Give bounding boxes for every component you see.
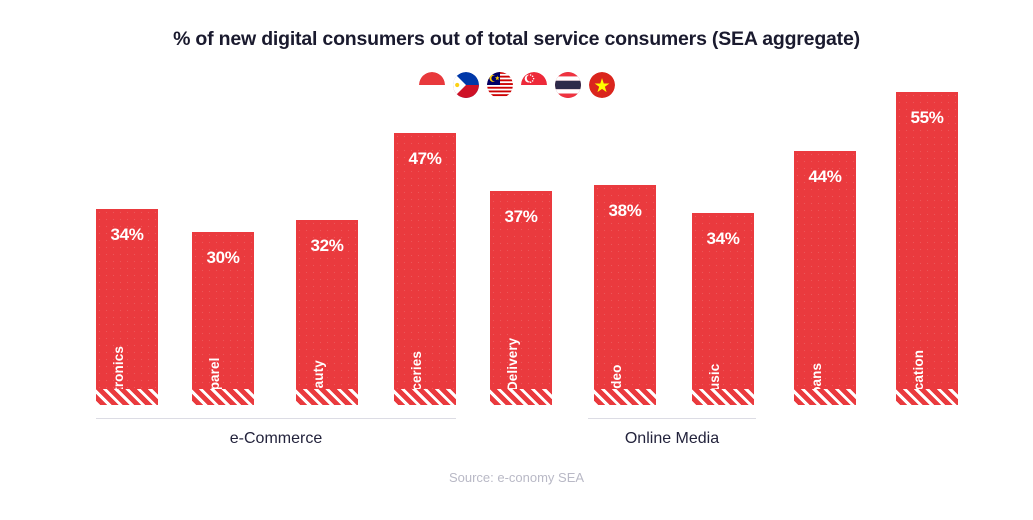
bar-hatch-base bbox=[794, 389, 856, 405]
bar-hatch-base bbox=[594, 389, 656, 405]
bar-hatch-base bbox=[192, 389, 254, 405]
bar-electronics[interactable]: 34% Electronics bbox=[96, 209, 158, 405]
bar-hatch-base bbox=[692, 389, 754, 405]
bar-hatch-base bbox=[96, 389, 158, 405]
group-label-online-media: Online Media bbox=[588, 430, 756, 448]
bar-category-label: Education bbox=[909, 350, 927, 416]
bar-groceries[interactable]: 47% Groceries bbox=[394, 133, 456, 405]
bar-video[interactable]: 38% Video bbox=[594, 185, 656, 405]
bar-value-label: 38% bbox=[594, 201, 656, 221]
bar-category-label: Food Delivery bbox=[503, 338, 521, 429]
bar-value-label: 55% bbox=[896, 108, 958, 128]
group-rule-online-media bbox=[588, 418, 756, 419]
bar-value-label: 47% bbox=[394, 149, 456, 169]
bar-category-label: Groceries bbox=[407, 351, 425, 415]
bar-apparel[interactable]: 30% Apparel bbox=[192, 232, 254, 405]
bar-beauty[interactable]: 32% Beauty bbox=[296, 220, 358, 405]
bar-category-label: Electronics bbox=[109, 346, 127, 420]
bar-value-label: 32% bbox=[296, 236, 358, 256]
bar-value-label: 44% bbox=[794, 167, 856, 187]
bar-value-label: 34% bbox=[96, 225, 158, 245]
bar-hatch-base bbox=[896, 389, 958, 405]
bar-hatch-base bbox=[394, 389, 456, 405]
source-note: Source: e-conomy SEA bbox=[0, 470, 1033, 485]
plot-area: 34% Electronics 30% Apparel 32% Beauty 4… bbox=[0, 0, 1033, 520]
bar-hatch-base bbox=[296, 389, 358, 405]
bar-education[interactable]: 55% Education bbox=[896, 92, 958, 405]
bar-music[interactable]: 34% Music bbox=[692, 213, 754, 405]
bar-value-label: 34% bbox=[692, 229, 754, 249]
group-rule-ecommerce bbox=[96, 418, 456, 419]
group-label-ecommerce: e-Commerce bbox=[96, 430, 456, 448]
bar-food-delivery[interactable]: 37% Food Delivery bbox=[490, 191, 552, 405]
bar-loans[interactable]: 44% Loans bbox=[794, 151, 856, 405]
bar-value-label: 30% bbox=[192, 248, 254, 268]
bar-value-label: 37% bbox=[490, 207, 552, 227]
bar-hatch-base bbox=[490, 389, 552, 405]
chart-container: % of new digital consumers out of total … bbox=[0, 0, 1033, 520]
